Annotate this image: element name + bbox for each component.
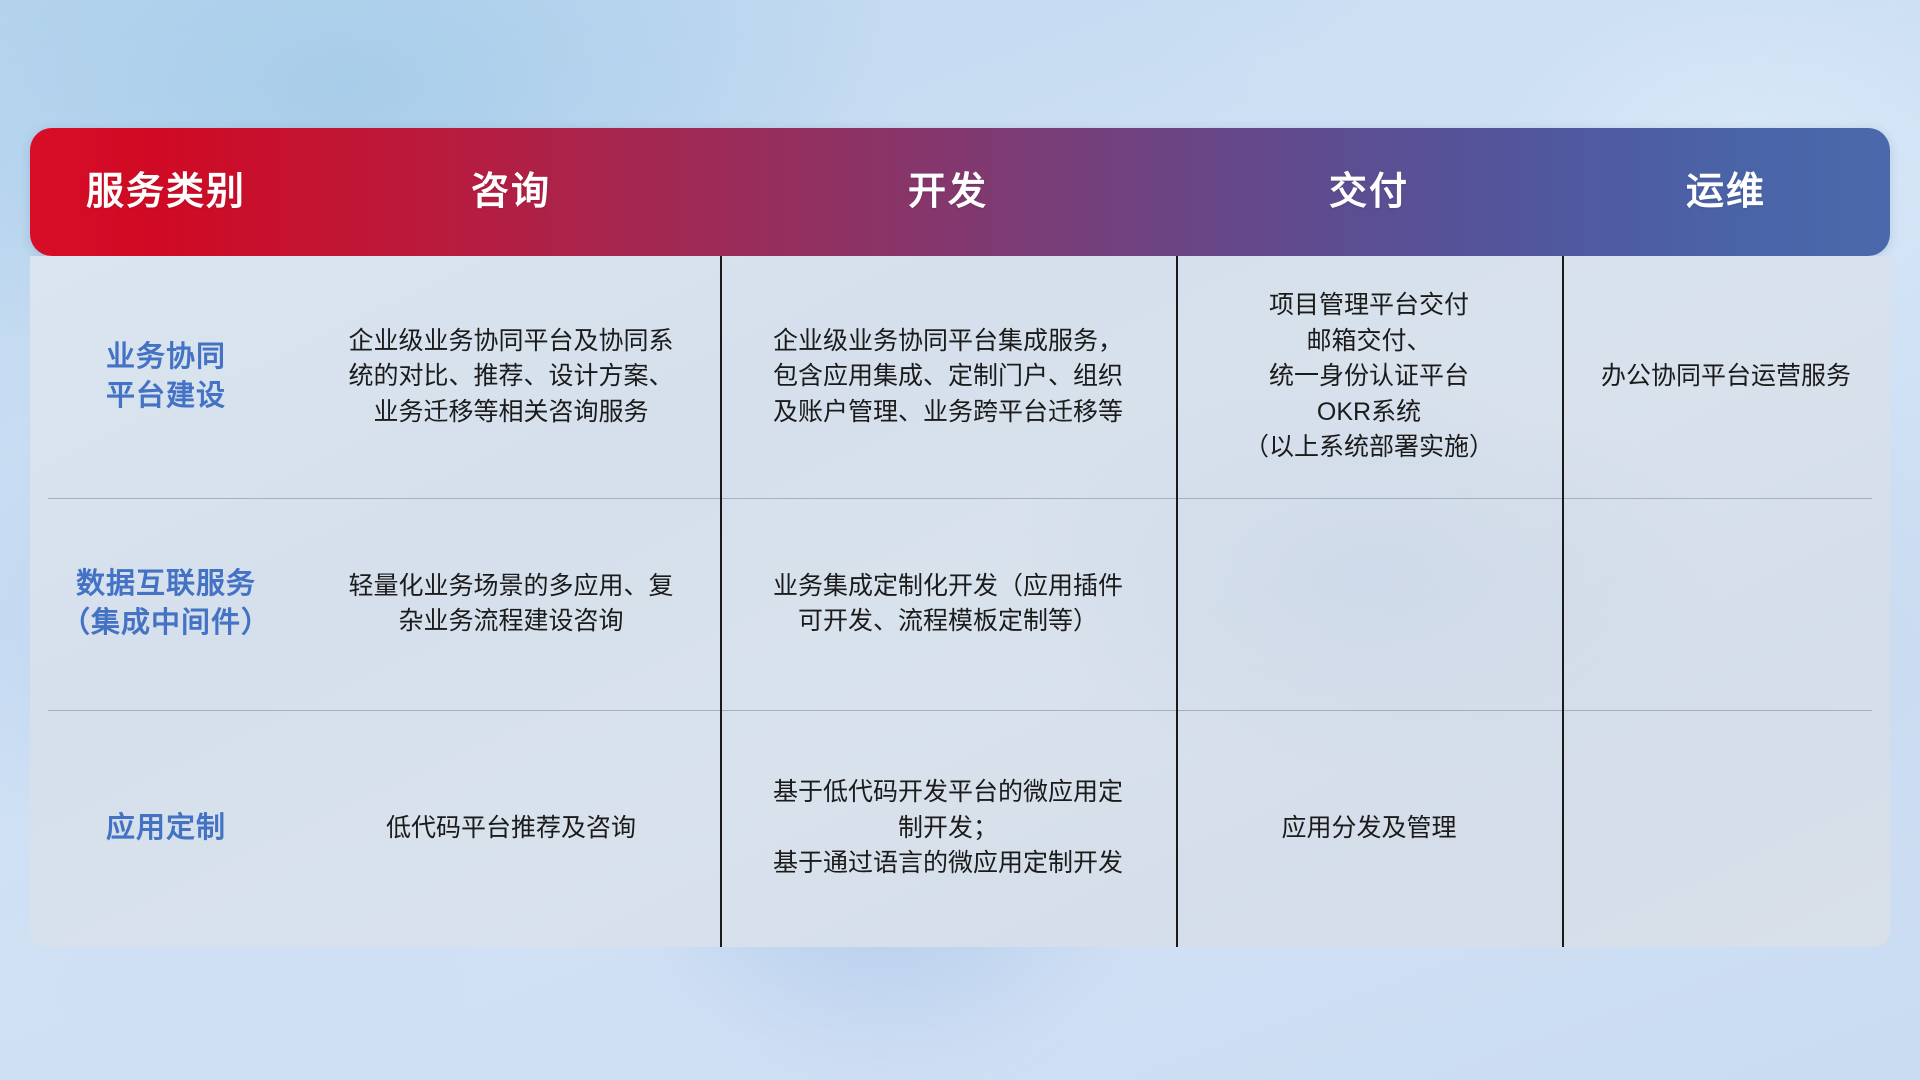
cell-consult: 轻量化业务场景的多应用、复 杂业务流程建设咨询	[302, 498, 720, 710]
cell-operate	[1562, 710, 1890, 947]
cell-operate: 办公协同平台运营服务	[1562, 256, 1890, 498]
table-row: 应用定制低代码平台推荐及咨询基于低代码开发平台的微应用定 制开发； 基于通过语言…	[30, 710, 1890, 947]
table-row: 数据互联服务 （集成中间件）轻量化业务场景的多应用、复 杂业务流程建设咨询业务集…	[30, 498, 1890, 710]
cell-deliver: 应用分发及管理	[1176, 710, 1562, 947]
cell-deliver: 项目管理平台交付 邮箱交付、 统一身份认证平台 OKR系统 （以上系统部署实施）	[1176, 256, 1562, 498]
cell-develop: 企业级业务协同平台集成服务， 包含应用集成、定制门户、组织 及账户管理、业务跨平…	[720, 256, 1176, 498]
table-body: 业务协同 平台建设企业级业务协同平台及协同系 统的对比、推荐、设计方案、 业务迁…	[30, 256, 1890, 947]
header-cell-category: 服务类别	[30, 128, 302, 256]
cell-deliver	[1176, 498, 1562, 710]
column-divider-3	[1562, 256, 1564, 947]
cell-develop: 基于低代码开发平台的微应用定 制开发； 基于通过语言的微应用定制开发	[720, 710, 1176, 947]
table-header-row: 服务类别咨询开发交付运维	[30, 128, 1890, 256]
table-row: 业务协同 平台建设企业级业务协同平台及协同系 统的对比、推荐、设计方案、 业务迁…	[30, 256, 1890, 498]
cell-operate	[1562, 498, 1890, 710]
cell-category: 数据互联服务 （集成中间件）	[30, 498, 302, 710]
header-cell-consult: 咨询	[302, 128, 720, 256]
header-cell-deliver: 交付	[1176, 128, 1562, 256]
column-divider-2	[1176, 256, 1178, 947]
cell-category: 业务协同 平台建设	[30, 256, 302, 498]
service-matrix-table: 服务类别咨询开发交付运维 业务协同 平台建设企业级业务协同平台及协同系 统的对比…	[30, 128, 1890, 947]
cell-consult: 企业级业务协同平台及协同系 统的对比、推荐、设计方案、 业务迁移等相关咨询服务	[302, 256, 720, 498]
header-cell-develop: 开发	[720, 128, 1176, 256]
cell-develop: 业务集成定制化开发（应用插件 可开发、流程模板定制等）	[720, 498, 1176, 710]
header-cell-operate: 运维	[1562, 128, 1890, 256]
cell-category: 应用定制	[30, 710, 302, 947]
column-divider-1	[720, 256, 722, 947]
cell-consult: 低代码平台推荐及咨询	[302, 710, 720, 947]
